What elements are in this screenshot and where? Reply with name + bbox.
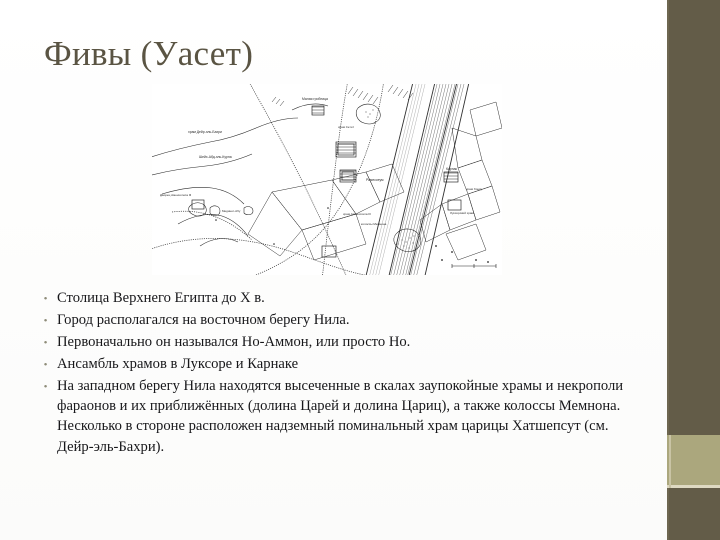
list-item: • На западном берегу Нила находятся высе… [34, 376, 624, 457]
map-label: храм Хонсу [466, 187, 483, 191]
map-label: Малая гробница [302, 97, 328, 101]
map-label: Мединет-Абу [222, 209, 241, 213]
page-title: Фивы (Уасет) [44, 34, 253, 74]
list-item: • Город располагался на восточном берегу… [34, 310, 624, 331]
list-item-text: На западном берегу Нила находятся высече… [57, 376, 624, 457]
list-item-text: Столица Верхнего Египта до X в. [57, 288, 624, 309]
map-label: храм Аменхотепа III [343, 212, 371, 216]
map-label: колоссы Мемнона [361, 222, 387, 226]
decorative-band-khaki-edge [667, 485, 720, 488]
bullet-marker-icon: • [34, 332, 57, 353]
bullet-marker-icon: • [34, 288, 57, 309]
bullet-marker-icon: • [34, 376, 57, 397]
historical-map-image: Малая гробница храм Дейр-эль-Бахри Шейх-… [152, 84, 502, 275]
map-label: Карнак [446, 167, 458, 171]
map-label: храм Дейр-эль-Бахри [188, 130, 222, 134]
map-label: храм Сети I [338, 125, 354, 129]
map-label: Луксорский храм [450, 211, 474, 215]
map-label: Шейх-Абд-эль-Курна [199, 155, 232, 159]
bullet-marker-icon: • [34, 310, 57, 331]
list-item-text: Ансамбль храмов в Луксоре и Карнаке [57, 354, 624, 375]
bullet-list: • Столица Верхнего Египта до X в. • Горо… [34, 288, 624, 458]
list-item-text: Город располагался на восточном берегу Н… [57, 310, 624, 331]
map-figure: Малая гробница храм Дейр-эль-Бахри Шейх-… [152, 84, 502, 275]
map-label: Дворец Аменхотепа III [160, 193, 191, 197]
list-item: • Столица Верхнего Египта до X в. [34, 288, 624, 309]
decorative-band-gap [669, 435, 671, 488]
map-label: Рамессеум [366, 178, 384, 182]
bullet-marker-icon: • [34, 354, 57, 375]
list-item: • Первоначально он назывался Но-Аммон, и… [34, 332, 624, 353]
decorative-band-khaki-block [667, 435, 720, 485]
slide-root: Фивы (Уасет) [0, 0, 720, 540]
list-item: • Ансамбль храмов в Луксоре и Карнаке [34, 354, 624, 375]
list-item-text: Первоначально он назывался Но-Аммон, или… [57, 332, 624, 353]
